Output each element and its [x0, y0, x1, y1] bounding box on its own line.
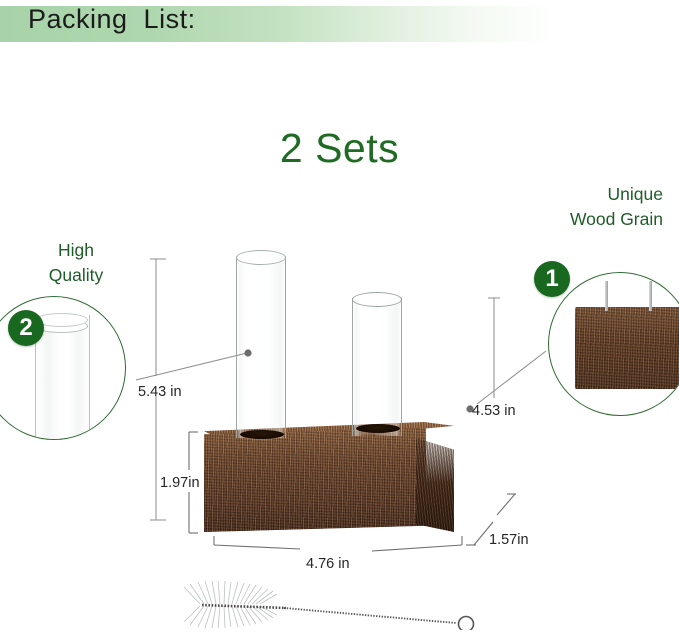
wood-base-side-face: [416, 434, 454, 532]
dimension-label-tube-height: 5.43 in: [138, 383, 182, 401]
caption-line-1: High: [22, 238, 130, 263]
page-title: Packing List:: [28, 3, 196, 35]
feature-badge-1: 1: [534, 261, 570, 297]
wood-grain-closeup: [575, 307, 679, 389]
quantity-title: 2 Sets: [0, 124, 679, 172]
dimension-label-short-tube: 4.53 in: [472, 402, 516, 420]
wooden-base: [204, 422, 454, 532]
tube-stem-right: [649, 281, 652, 311]
packing-list-infographic: Packing List: 2 Sets Unique Wood Grain H…: [0, 0, 679, 639]
product-illustration: [196, 246, 486, 546]
caption-line-2: Wood Grain: [570, 207, 663, 232]
dimension-label-base-height: 1.97in: [160, 474, 200, 492]
tube-stem-left: [605, 281, 608, 311]
detail-circle-wood-grain: [548, 272, 679, 416]
glass-tube-tall: [236, 256, 286, 438]
wood-base-front-face: [204, 428, 426, 532]
feature-badge-2: 2: [8, 310, 44, 346]
dimension-label-base-width: 4.76 in: [306, 555, 350, 573]
feature-caption-high-quality: High Quality: [22, 238, 130, 288]
drill-hole-left: [240, 430, 284, 439]
cleaning-brush: [178, 578, 488, 630]
caption-line-2: Quality: [22, 263, 130, 288]
feature-caption-wood-grain: Unique Wood Grain: [570, 182, 663, 232]
glass-tube-closeup: [35, 315, 90, 440]
dimension-label-base-depth: 1.57in: [489, 531, 529, 549]
caption-line-1: Unique: [570, 182, 663, 207]
glass-tube-short: [352, 298, 402, 436]
drill-hole-right: [356, 424, 400, 433]
